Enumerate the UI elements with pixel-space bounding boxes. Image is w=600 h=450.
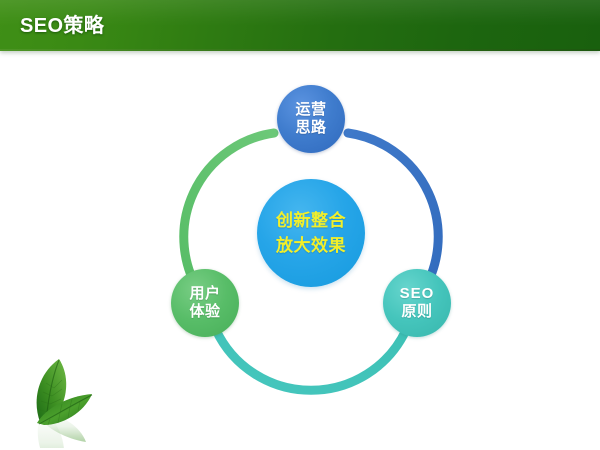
node-operations-line1: 运营	[295, 101, 326, 119]
node-user-experience-line2: 体验	[189, 303, 220, 321]
center-hub-line1: 创新整合	[276, 208, 346, 233]
page-title: SEO策略	[20, 13, 104, 39]
node-operations[interactable]: 运营 思路	[277, 85, 345, 153]
green-leaf-icon	[4, 344, 136, 448]
center-hub[interactable]: 创新整合 放大效果	[257, 179, 365, 287]
center-hub-line2: 放大效果	[276, 233, 346, 258]
arc-bottom-teal	[216, 330, 406, 390]
node-seo-principles-line1: SEO	[400, 285, 435, 303]
header-baseline-divider	[0, 49, 600, 51]
node-user-experience[interactable]: 用户 体验	[171, 269, 239, 337]
node-operations-line2: 思路	[295, 119, 326, 137]
node-user-experience-line1: 用户	[189, 285, 220, 303]
node-seo-principles-line2: 原则	[401, 303, 432, 321]
node-seo-principles[interactable]: SEO 原则	[383, 269, 451, 337]
leaf-decoration	[4, 344, 136, 448]
slide-canvas: SEO策略	[0, 0, 600, 450]
header-bar: SEO策略	[0, 0, 600, 51]
cycle-diagram: 运营 思路 用户 体验 SEO 原则 创新整合 放大效果	[0, 51, 600, 450]
